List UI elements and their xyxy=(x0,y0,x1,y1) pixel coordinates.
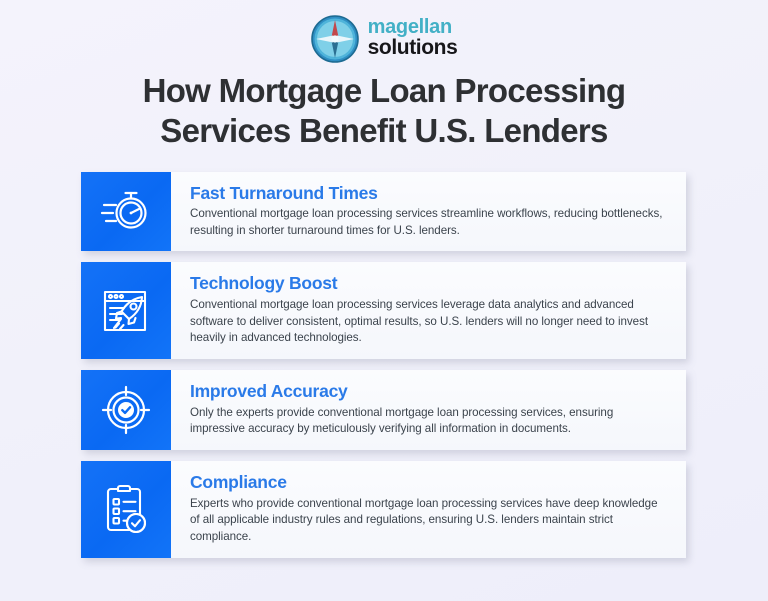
brand-name-bottom: solutions xyxy=(368,38,458,59)
clipboard-checklist-icon xyxy=(102,483,150,535)
benefit-card-icon-panel xyxy=(81,262,171,359)
compass-rose-icon xyxy=(311,15,359,63)
benefit-card-list: Fast Turnaround Times Conventional mortg… xyxy=(0,172,768,558)
brand-logo: magellan solutions xyxy=(0,0,768,62)
benefit-card: Compliance Experts who provide conventio… xyxy=(81,461,686,558)
benefit-card-description: Only the experts provide conventional mo… xyxy=(190,405,670,438)
target-checkmark-icon xyxy=(101,385,151,435)
stopwatch-speed-icon xyxy=(100,188,152,234)
benefit-card-body: Improved Accuracy Only the experts provi… xyxy=(171,370,686,450)
benefit-card-description: Conventional mortgage loan processing se… xyxy=(190,206,670,239)
brand-name-top: magellan xyxy=(368,18,458,38)
benefit-card-body: Compliance Experts who provide conventio… xyxy=(171,461,686,558)
benefit-card: Fast Turnaround Times Conventional mortg… xyxy=(81,172,686,252)
browser-window-rocket-icon xyxy=(101,287,151,335)
benefit-card-body: Technology Boost Conventional mortgage l… xyxy=(171,262,686,359)
benefit-card-title: Fast Turnaround Times xyxy=(190,184,670,204)
benefit-card-title: Improved Accuracy xyxy=(190,382,670,402)
page-title: How Mortgage Loan Processing Services Be… xyxy=(0,71,768,152)
benefit-card-icon-panel xyxy=(81,370,171,450)
benefit-card-icon-panel xyxy=(81,172,171,252)
infographic-page: magellan solutions How Mortgage Loan Pro… xyxy=(0,0,768,601)
benefit-card-title: Compliance xyxy=(190,473,670,493)
page-title-line-1: How Mortgage Loan Processing xyxy=(143,72,626,109)
benefit-card-icon-panel xyxy=(81,461,171,558)
page-title-line-2: Services Benefit U.S. Lenders xyxy=(34,111,734,151)
benefit-card-description: Conventional mortgage loan processing se… xyxy=(190,297,670,347)
benefit-card-description: Experts who provide conventional mortgag… xyxy=(190,496,670,546)
brand-wordmark: magellan solutions xyxy=(368,18,458,60)
benefit-card: Technology Boost Conventional mortgage l… xyxy=(81,262,686,359)
benefit-card: Improved Accuracy Only the experts provi… xyxy=(81,370,686,450)
benefit-card-body: Fast Turnaround Times Conventional mortg… xyxy=(171,172,686,252)
benefit-card-title: Technology Boost xyxy=(190,274,670,294)
